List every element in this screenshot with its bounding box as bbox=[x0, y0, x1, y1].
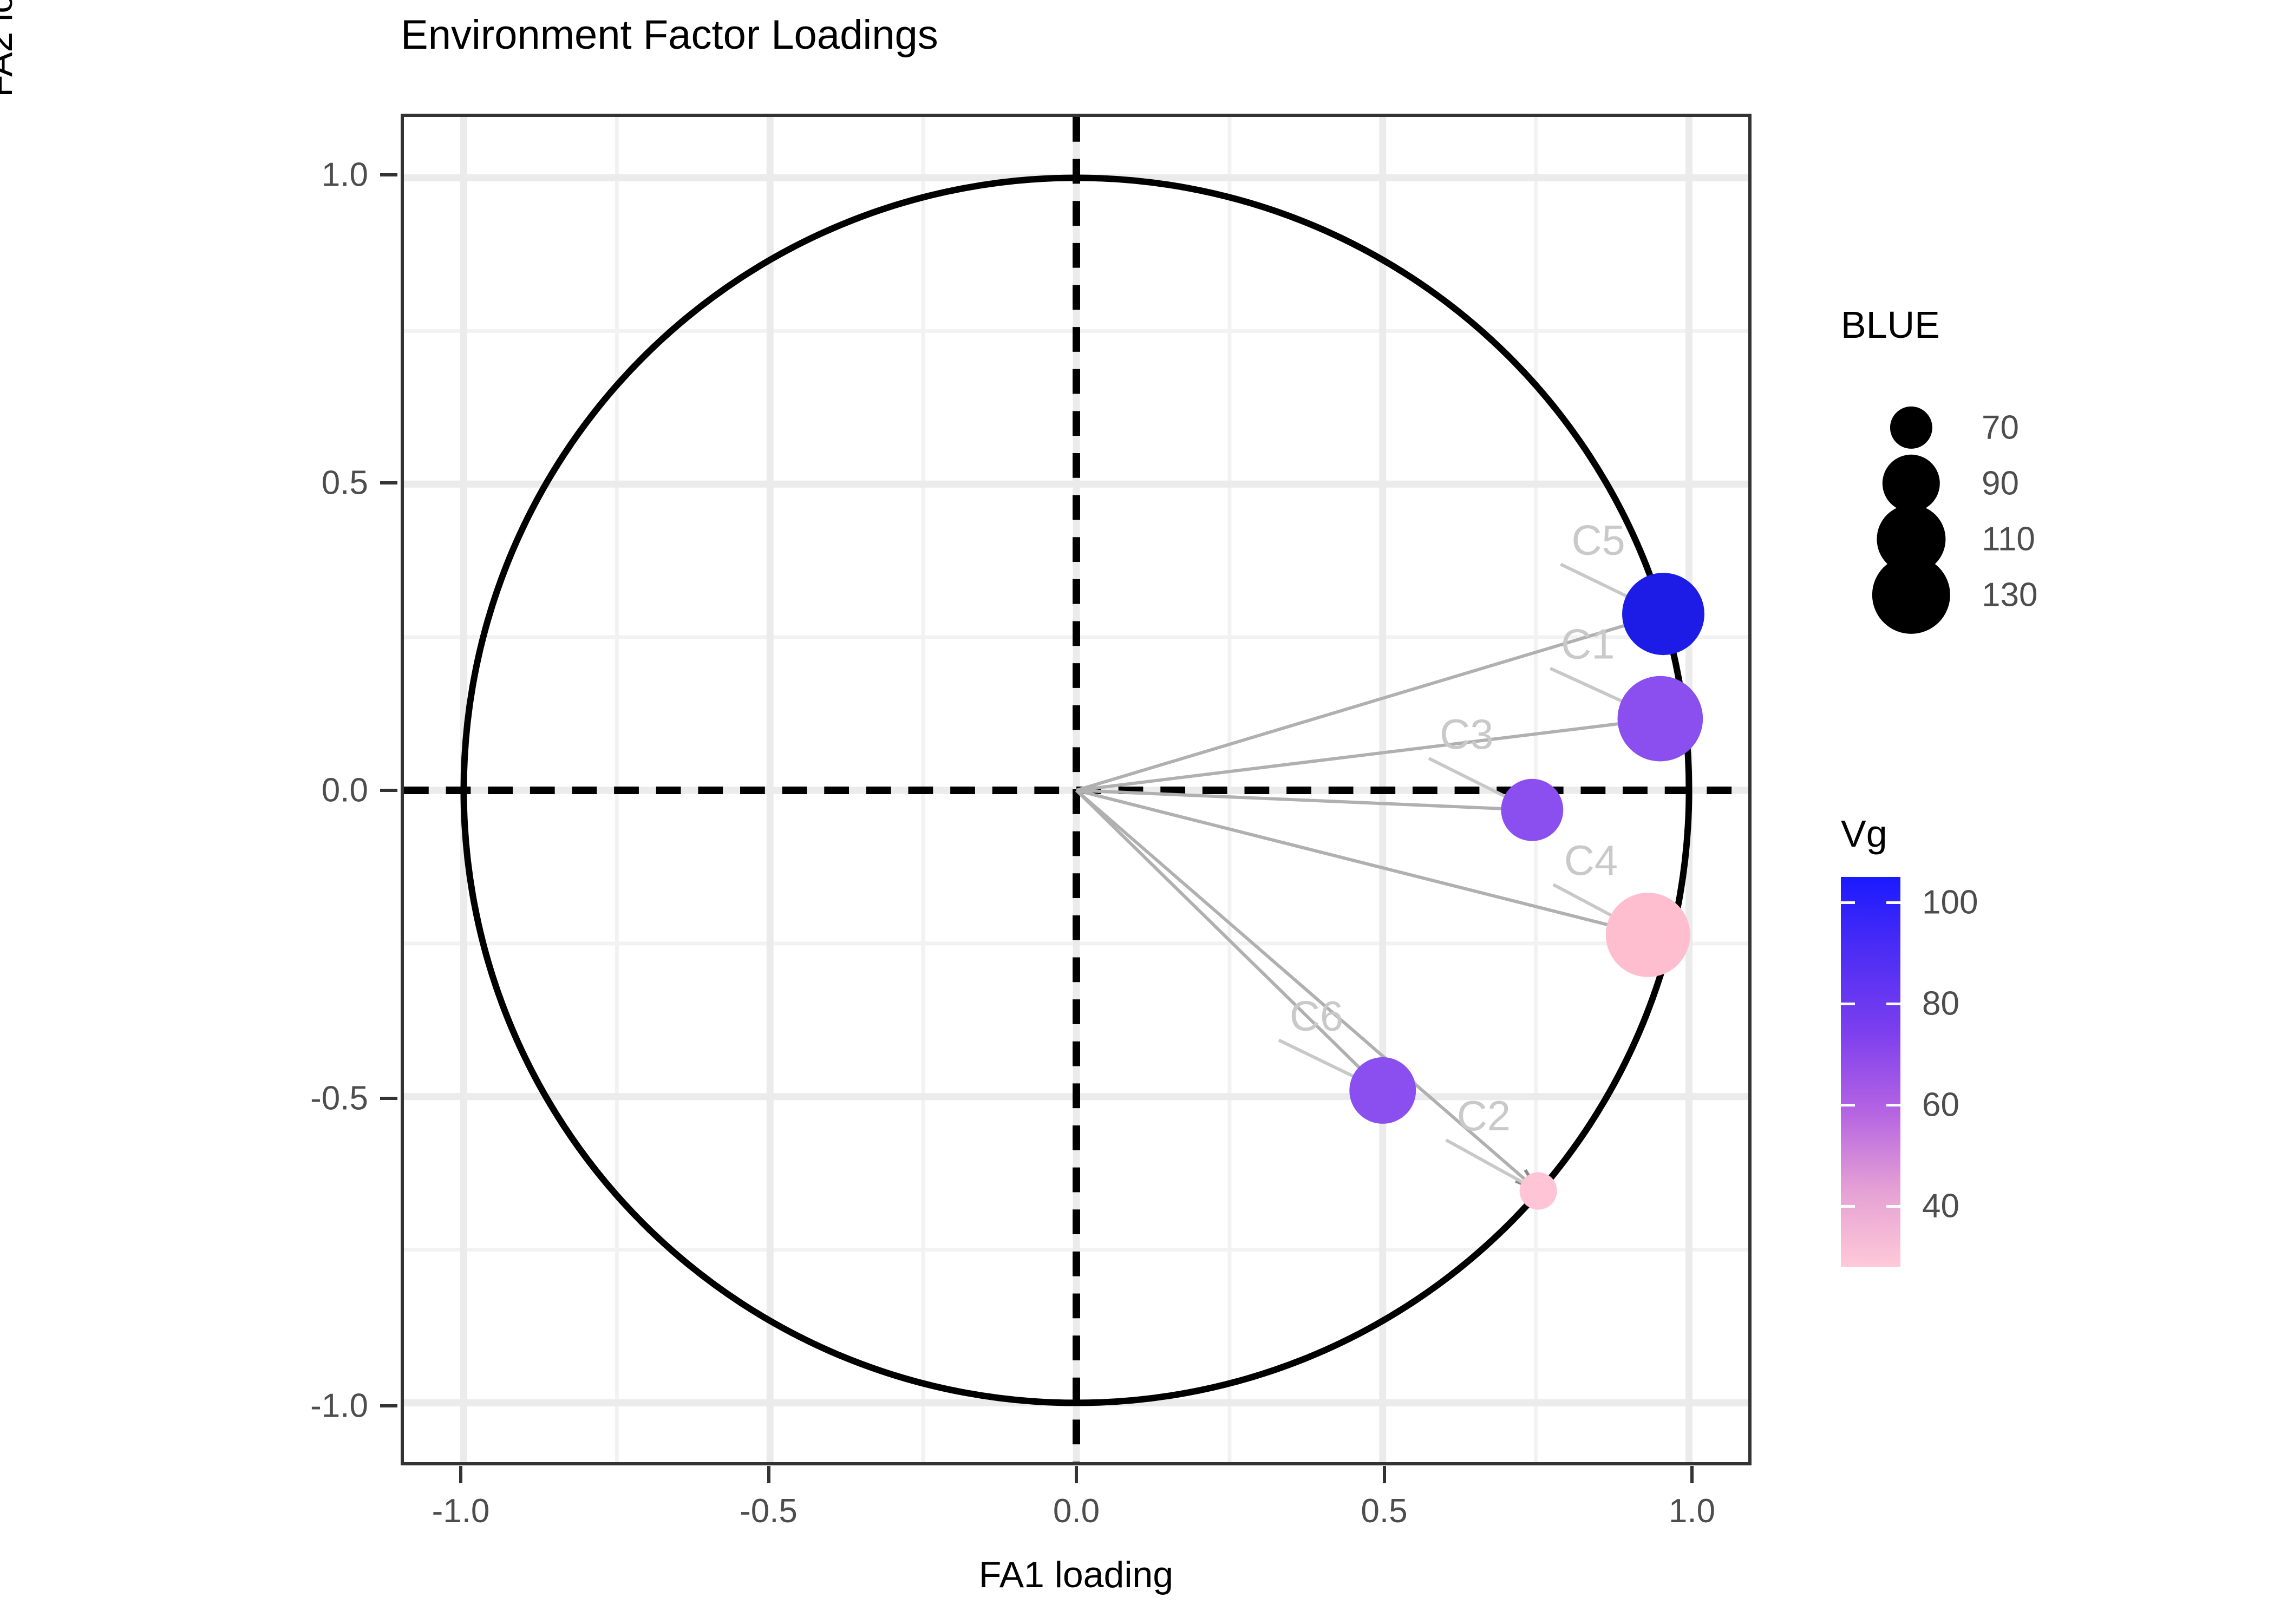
y-tick-mark bbox=[380, 1097, 397, 1100]
size-legend-title: BLUE bbox=[1841, 303, 1940, 346]
point-label-c3: C3 bbox=[1440, 711, 1493, 758]
x-tick-mark bbox=[1075, 1466, 1078, 1483]
color-legend-tick bbox=[1886, 1003, 1900, 1005]
plot-canvas: C1C2C3C4C5C6 bbox=[404, 117, 1748, 1462]
color-legend-label: 100 bbox=[1922, 883, 1978, 921]
data-point-c4 bbox=[1606, 893, 1690, 977]
y-tick-label: 0.0 bbox=[206, 771, 368, 810]
color-legend-label: 40 bbox=[1922, 1187, 1959, 1225]
size-legend-label: 110 bbox=[1982, 520, 2035, 559]
point-label-c4: C4 bbox=[1564, 837, 1618, 884]
x-tick-mark bbox=[767, 1466, 770, 1483]
y-tick-mark bbox=[380, 1404, 397, 1407]
size-legend-dot bbox=[1890, 407, 1932, 449]
page-title: Environment Factor Loadings bbox=[401, 5, 1808, 65]
color-legend-tick bbox=[1841, 901, 1855, 904]
x-tick-label: -1.0 bbox=[432, 1492, 490, 1530]
x-tick-label: 0.5 bbox=[1361, 1492, 1407, 1530]
point-label-c5: C5 bbox=[1571, 517, 1625, 564]
color-legend-tick bbox=[1886, 1205, 1900, 1208]
size-legend-dot bbox=[1872, 556, 1950, 634]
size-legend-label: 130 bbox=[1982, 576, 2037, 614]
data-point-c1 bbox=[1618, 676, 1703, 762]
x-tick-mark bbox=[459, 1466, 462, 1483]
x-axis-title: FA1 loading bbox=[401, 1554, 1752, 1596]
color-legend-tick bbox=[1841, 1104, 1855, 1106]
y-tick-label: 1.0 bbox=[206, 156, 368, 194]
x-tick-mark bbox=[1383, 1466, 1386, 1483]
y-tick-mark bbox=[380, 481, 397, 484]
x-tick-label: 0.0 bbox=[1053, 1492, 1100, 1530]
x-tick-mark bbox=[1690, 1466, 1694, 1483]
y-tick-mark bbox=[380, 173, 397, 176]
color-legend-tick bbox=[1841, 1205, 1855, 1208]
data-point-c5 bbox=[1622, 573, 1704, 655]
point-label-c6: C6 bbox=[1290, 993, 1343, 1040]
y-tick-mark bbox=[380, 789, 397, 792]
size-legend-label: 70 bbox=[1982, 409, 2019, 447]
point-label-c1: C1 bbox=[1561, 621, 1615, 668]
color-legend-label: 60 bbox=[1922, 1085, 1959, 1124]
color-legend-tick bbox=[1841, 1003, 1855, 1005]
y-tick-label: -1.0 bbox=[206, 1387, 368, 1425]
data-point-c3 bbox=[1501, 779, 1563, 841]
data-point-c2 bbox=[1520, 1172, 1557, 1209]
size-legend-dot bbox=[1883, 455, 1940, 512]
data-points bbox=[1349, 573, 1704, 1209]
color-legend-tick bbox=[1886, 901, 1900, 904]
x-tick-label: -0.5 bbox=[740, 1492, 798, 1530]
color-legend-tick bbox=[1886, 1104, 1900, 1106]
point-labels: C1C2C3C4C5C6 bbox=[1290, 517, 1625, 1140]
color-legend-bar bbox=[1841, 877, 1900, 1267]
y-tick-label: -0.5 bbox=[206, 1079, 368, 1117]
y-axis-title-text: FA2 loading bbox=[0, 0, 21, 379]
x-tick-label: 1.0 bbox=[1669, 1492, 1715, 1530]
size-legend-label: 90 bbox=[1982, 464, 2019, 503]
plot-panel: C1C2C3C4C5C6 bbox=[401, 114, 1752, 1465]
color-legend-title: Vg bbox=[1841, 812, 1887, 855]
color-legend-label: 80 bbox=[1922, 984, 1959, 1023]
y-tick-label: 0.5 bbox=[206, 463, 368, 502]
point-label-c2: C2 bbox=[1457, 1093, 1511, 1140]
data-point-c6 bbox=[1349, 1057, 1416, 1124]
